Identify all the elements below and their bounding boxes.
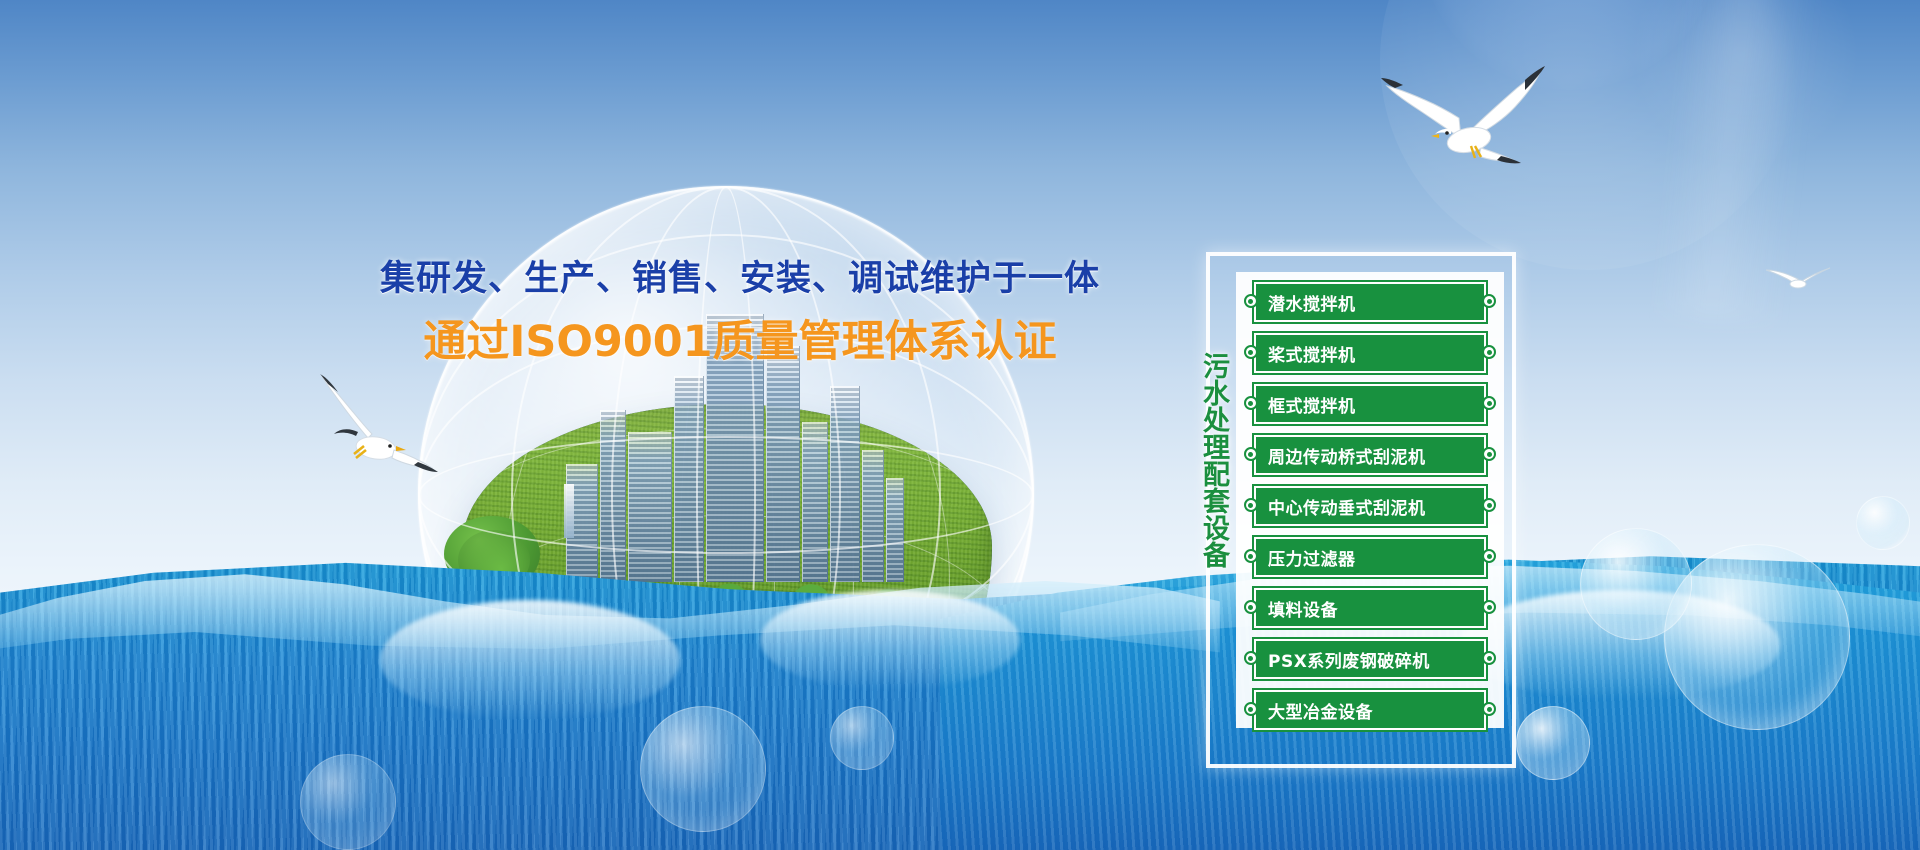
connector-knob-right-icon [1482, 702, 1496, 716]
panel-vertical-title: 污水处理配套设备 [1190, 352, 1230, 568]
bubble-icon [300, 754, 396, 850]
product-item-label: 压力过滤器 [1268, 545, 1356, 570]
bubble-icon [830, 706, 894, 770]
bubble-icon [1516, 706, 1590, 780]
product-list-item[interactable]: 填料设备 [1244, 586, 1496, 634]
product-list: 潜水搅拌机桨式搅拌机框式搅拌机周边传动桥式刮泥机中心传动垂式刮泥机压力过滤器填料… [1236, 272, 1504, 728]
connector-knob-right-icon [1482, 651, 1496, 665]
product-item-label: 大型冶金设备 [1268, 698, 1373, 723]
bubble-icon [1664, 544, 1850, 730]
product-list-item[interactable]: 桨式搅拌机 [1244, 331, 1496, 379]
product-list-item[interactable]: 压力过滤器 [1244, 535, 1496, 583]
banner-stage: 集研发、生产、销售、安装、调试维护于一体 通过ISO9001质量管理体系认证 污… [0, 0, 1920, 850]
connector-knob-right-icon [1482, 498, 1496, 512]
product-item-box[interactable]: 中心传动垂式刮泥机 [1254, 486, 1486, 526]
product-item-label: 框式搅拌机 [1268, 392, 1356, 417]
headline-line-1: 集研发、生产、销售、安装、调试维护于一体 [330, 250, 1150, 301]
bubble-icon [1580, 528, 1692, 640]
product-item-box[interactable]: 框式搅拌机 [1254, 384, 1486, 424]
connector-knob-right-icon [1482, 345, 1496, 359]
connector-knob-right-icon [1482, 447, 1496, 461]
connector-knob-left-icon [1244, 651, 1258, 665]
connector-knob-right-icon [1482, 600, 1496, 614]
headline-block: 集研发、生产、销售、安装、调试维护于一体 通过ISO9001质量管理体系认证 [330, 250, 1150, 369]
water-splash [380, 600, 680, 720]
connector-knob-left-icon [1244, 447, 1258, 461]
connector-knob-right-icon [1482, 549, 1496, 563]
connector-knob-left-icon [1244, 498, 1258, 512]
connector-knob-left-icon [1244, 345, 1258, 359]
product-item-box[interactable]: 压力过滤器 [1254, 537, 1486, 577]
product-item-box[interactable]: PSX系列废钢破碎机 [1254, 639, 1486, 679]
product-item-box[interactable]: 潜水搅拌机 [1254, 282, 1486, 322]
water-wave [0, 470, 1920, 850]
product-list-item[interactable]: 潜水搅拌机 [1244, 280, 1496, 328]
water-splash [760, 590, 1020, 690]
product-list-item[interactable]: 周边传动桥式刮泥机 [1244, 433, 1496, 481]
seagull-icon [1375, 60, 1555, 200]
product-list-panel: 污水处理配套设备 潜水搅拌机桨式搅拌机框式搅拌机周边传动桥式刮泥机中心传动垂式刮… [1206, 252, 1516, 768]
product-item-box[interactable]: 大型冶金设备 [1254, 690, 1486, 730]
product-item-box[interactable]: 桨式搅拌机 [1254, 333, 1486, 373]
seagull-icon [1760, 262, 1834, 302]
bubble-icon [1856, 496, 1910, 550]
connector-knob-right-icon [1482, 396, 1496, 410]
product-list-item[interactable]: 大型冶金设备 [1244, 688, 1496, 736]
product-item-label: 潜水搅拌机 [1268, 290, 1356, 315]
product-item-label: 桨式搅拌机 [1268, 341, 1356, 366]
product-item-label: PSX系列废钢破碎机 [1268, 647, 1430, 672]
connector-knob-right-icon [1482, 294, 1496, 308]
product-item-box[interactable]: 填料设备 [1254, 588, 1486, 628]
connector-knob-left-icon [1244, 702, 1258, 716]
product-list-item[interactable]: 框式搅拌机 [1244, 382, 1496, 430]
connector-knob-left-icon [1244, 294, 1258, 308]
bubble-icon [640, 706, 766, 832]
connector-knob-left-icon [1244, 549, 1258, 563]
product-item-label: 填料设备 [1268, 596, 1338, 621]
seagull-icon [306, 374, 442, 484]
product-list-item[interactable]: PSX系列废钢破碎机 [1244, 637, 1496, 685]
product-item-label: 中心传动垂式刮泥机 [1268, 494, 1426, 519]
headline-line-2: 通过ISO9001质量管理体系认证 [330, 307, 1150, 369]
product-list-item[interactable]: 中心传动垂式刮泥机 [1244, 484, 1496, 532]
product-item-label: 周边传动桥式刮泥机 [1268, 443, 1426, 468]
connector-knob-left-icon [1244, 600, 1258, 614]
product-item-box[interactable]: 周边传动桥式刮泥机 [1254, 435, 1486, 475]
connector-knob-left-icon [1244, 396, 1258, 410]
